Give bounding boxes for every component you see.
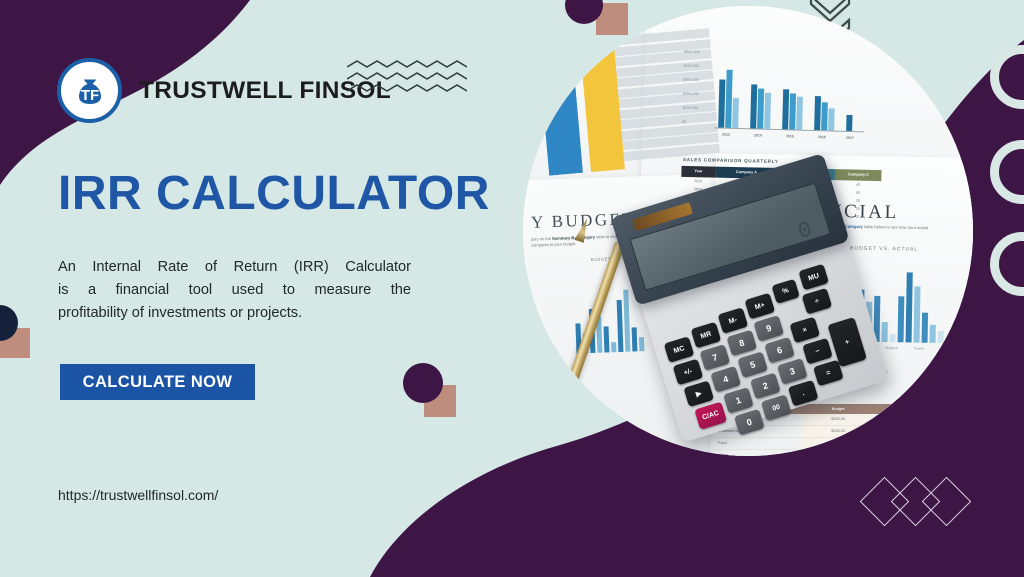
key-mr[interactable]: MR (691, 322, 722, 349)
key-3[interactable]: 3 (777, 358, 808, 385)
key-arrow[interactable]: ▶ (683, 380, 714, 407)
key-plus-minus[interactable]: +/- (673, 359, 704, 386)
banner-root: $500,000 $400,000 $300,000 $200,000 $100… (0, 0, 1024, 577)
key-1[interactable]: 1 (723, 387, 754, 414)
description-line-1: An Internal Rate of Return (IRR) Calcula… (58, 256, 411, 279)
circle-decor-mid (403, 363, 443, 403)
key-mu[interactable]: MU (798, 264, 829, 291)
description-text: An Internal Rate of Return (IRR) Calcula… (58, 256, 411, 325)
page-title: IRR CALCULATOR (58, 166, 490, 221)
brand-logo-row: TF TRUSTWELL FINSOL (57, 58, 391, 123)
key-9[interactable]: 9 (753, 315, 784, 342)
sales-bar-chart: $500,000 $400,000 $300,000 $200,000 $100… (682, 44, 870, 149)
hero-photo: $500,000 $400,000 $300,000 $200,000 $100… (523, 6, 973, 456)
key-7[interactable]: 7 (700, 344, 731, 371)
key-divide[interactable]: ÷ (802, 288, 833, 315)
key-percent[interactable]: % (771, 279, 800, 304)
description-line-3: profitability of investments or projects… (58, 302, 411, 325)
money-bag-icon: TF (57, 58, 122, 123)
description-line-2: is a financial tool used to measure the (58, 279, 411, 302)
svg-text:TF: TF (80, 87, 98, 104)
table-row: Food $350.00 (713, 438, 928, 450)
key-5[interactable]: 5 (737, 351, 768, 378)
ring-decor-1 (990, 45, 1024, 109)
key-4[interactable]: 4 (710, 366, 741, 393)
table-row: Home $300.00 (713, 450, 928, 456)
key-mc[interactable]: MC (664, 336, 695, 363)
key-multiply[interactable]: × (789, 317, 820, 344)
ring-decor-2 (990, 140, 1024, 204)
key-m-plus[interactable]: M+ (744, 293, 775, 320)
key-2[interactable]: 2 (750, 373, 781, 400)
key-minus[interactable]: − (802, 338, 833, 365)
ring-decor-3 (990, 232, 1024, 296)
zigzag-decor (347, 59, 467, 107)
key-8[interactable]: 8 (726, 330, 757, 357)
key-6[interactable]: 6 (764, 337, 795, 364)
calculate-now-button[interactable]: CALCULATE NOW (60, 364, 255, 400)
diamond-decor-3 (922, 477, 971, 526)
website-url[interactable]: https://trustwellfinsol.com/ (58, 487, 218, 503)
key-m-minus[interactable]: M- (718, 307, 749, 334)
